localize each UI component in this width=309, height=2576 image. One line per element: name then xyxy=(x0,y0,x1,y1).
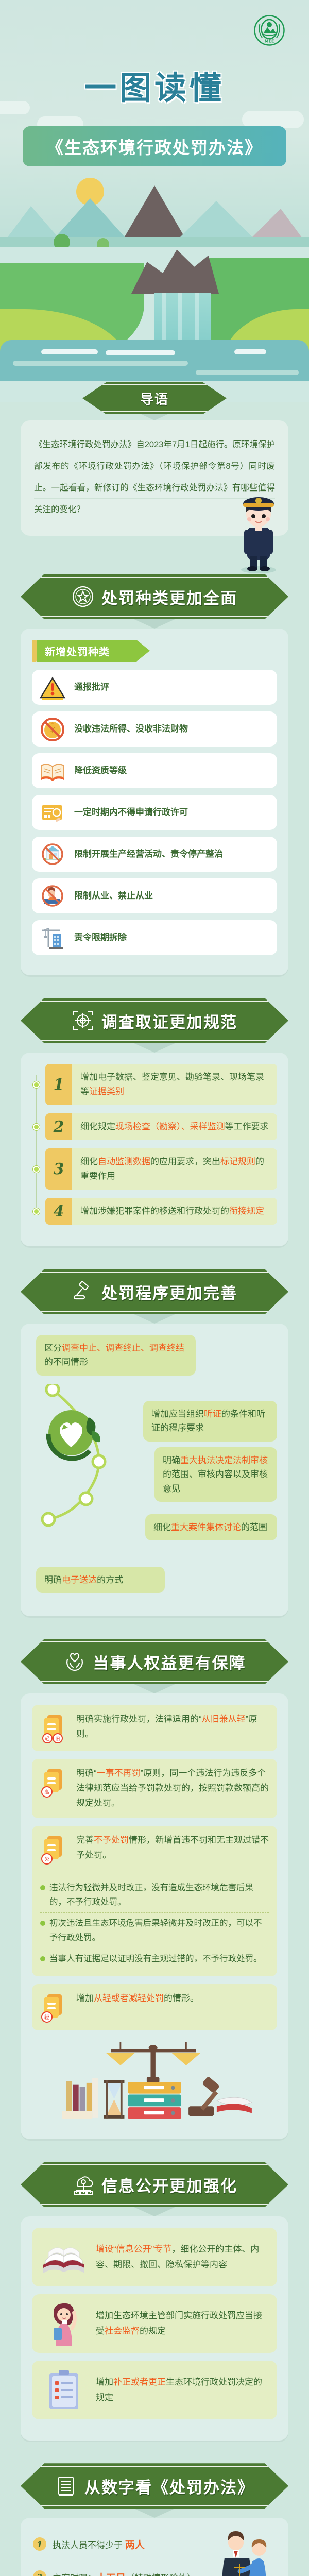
section-banner-evidence: 调查取证更加规范 xyxy=(0,991,309,1043)
item-number: 3 xyxy=(45,1148,72,1190)
svg-text:轻: 轻 xyxy=(45,1736,49,1741)
list-item: 增设“信息公开”专节，细化公开的主体、内容、期限、撤回、隐私保护等内容 xyxy=(32,2228,277,2286)
bullet-icon xyxy=(40,1921,45,1926)
timeline-dot-icon xyxy=(33,1081,40,1088)
list-item-label: 降低资质等级 xyxy=(74,765,127,776)
section-banner-numbers: 从数字看《处罚办法》 xyxy=(0,2456,309,2509)
mee-emblem-icon: MEE xyxy=(253,14,285,46)
list-item: 高 明确“一事不再罚”原则，同一个违法行为违反多个法律规范应当给予罚款处罚的，按… xyxy=(32,1759,277,1818)
section-banner-rights: 当事人权益更有保障 xyxy=(0,1632,309,1684)
officer-avatar xyxy=(234,487,283,574)
table-row: 2 细化规定现场检查（勘察）、采样监测等工作要求 xyxy=(45,1113,277,1140)
page-subtitle-ribbon: 《生态环境行政处罚办法》 xyxy=(23,126,286,166)
page-title: 一图读懂 xyxy=(0,62,309,108)
item-text: 明确“一事不再罚”原则，同一个违法行为违反多个法律规范应当给予罚款处罚的，按照罚… xyxy=(76,1766,269,1811)
panel-procedure: 区分调查中止、调查终止、调查终结的不同情形 增加应当组织听证的条件和听证的程序要… xyxy=(21,1324,288,1616)
list-item: 初次违法且生态环境危害后果轻微并及时改正的，可以不予行政处罚。 xyxy=(40,1912,269,1948)
item-text: 细化自动监测数据的应用要求，突出标记规则的重要作用 xyxy=(72,1148,277,1190)
item-text: 增加补正或者更正生态环境行政处罚决定的规定 xyxy=(96,2375,269,2405)
recycle-heart-leaf-icon xyxy=(41,1402,108,1469)
no-worker-icon xyxy=(39,884,66,908)
list-item-label: 责令限期拆除 xyxy=(74,932,127,943)
clipboard-checklist-icon xyxy=(40,2368,88,2412)
list-item-label: 没收违法所得、没收非法财物 xyxy=(74,723,188,735)
timeline-dot-icon xyxy=(33,1166,40,1173)
warning-triangle-icon xyxy=(39,675,66,700)
intro-banner: 导语 xyxy=(0,375,309,414)
scales-books-gavel-illustration xyxy=(32,2038,277,2126)
no-money-icon: ¥ xyxy=(39,717,66,741)
sublabel-text: 新增处罚种类 xyxy=(37,640,150,662)
table-row: 4 增加涉嫌犯罪案件的移送和行政处罚的衔接规定 xyxy=(45,1198,277,1225)
item-number: 2 xyxy=(33,2570,46,2576)
bubble-item: 明确重大执法决定法制审核的范围、审核内容以及审核意见 xyxy=(154,1447,277,1502)
hero-header: MEE 一图读懂 《生态环境行政处罚办法》 xyxy=(0,0,309,247)
item-text: 明确实施行政处罚，法律适用的“从旧兼从轻”原则。 xyxy=(76,1712,269,1742)
item-text: 增设“信息公开”专节，细化公开的主体、内容、期限、撤回、隐私保护等内容 xyxy=(96,2242,269,2273)
page-subtitle: 《生态环境行政处罚办法》 xyxy=(46,134,263,159)
list-item: 轻 增加从轻或者减轻处罚的情形。 xyxy=(32,1984,277,2030)
list-item: 增加补正或者更正生态环境行政处罚决定的规定 xyxy=(32,2361,277,2419)
sublabel-new-types: 新增处罚种类 xyxy=(32,640,277,662)
bullet-text: 违法行为轻微并及时改正，没有造成生态环境危害后果的，不予行政处罚。 xyxy=(49,1880,269,1909)
list-item: 当事人有证据足以证明没有主观过错的，不予行政处罚。 xyxy=(40,1948,269,1969)
timeline-dot-icon xyxy=(33,1208,40,1215)
no-factory-icon xyxy=(39,842,66,867)
section-banner-disclosure: 信息公开更加强化 xyxy=(0,2155,309,2207)
mountain-illustration xyxy=(0,170,309,247)
svg-text:MEE: MEE xyxy=(264,39,274,44)
list-item: 增加生态环境主管部门实施行政处罚应当接受社会监督的规定 xyxy=(32,2294,277,2353)
item-number: 1 xyxy=(33,2537,46,2551)
list-item: 通报批评 xyxy=(32,670,277,705)
list-item-label: 限制从业、禁止从业 xyxy=(74,890,153,902)
doc-light-icon: 轻 xyxy=(40,1991,69,2023)
timeline-dot-icon xyxy=(33,1124,40,1130)
svg-text:免: 免 xyxy=(44,1856,49,1862)
item-text: 增加生态环境主管部门实施行政处罚应当接受社会监督的规定 xyxy=(96,2308,269,2339)
list-item: 一定时期内不得申请行政许可 xyxy=(32,795,277,830)
panel-rights: 轻旧 明确实施行政处罚，法律适用的“从旧兼从轻”原则。 高 明确“一事不再罚”原… xyxy=(21,1693,288,2139)
list-item-label: 限制开展生产经营活动、责令停产整治 xyxy=(74,849,223,860)
list-item: 限制从业、禁止从业 xyxy=(32,878,277,913)
bullet-icon xyxy=(40,1885,45,1890)
doc-exempt-icon: 免 xyxy=(40,1833,69,1865)
section-banner-punishment-types: 处罚种类更加全面 xyxy=(0,567,309,619)
open-book-icon xyxy=(39,758,66,783)
item-text: 增加涉嫌犯罪案件的移送和行政处罚的衔接规定 xyxy=(72,1198,277,1225)
item-text: 增加电子数据、鉴定意见、勘验笔录、现场笔录等证据类别 xyxy=(72,1064,277,1105)
list-item-label: 通报批评 xyxy=(74,682,109,693)
panel-evidence: 1 增加电子数据、鉴定意见、勘验笔录、现场笔录等证据类别 2 细化规定现场检查（… xyxy=(21,1053,288,1246)
item-number: 2 xyxy=(45,1113,72,1140)
list-item: ¥ 没收违法所得、没收非法财物 xyxy=(32,711,277,747)
svg-text:旧: 旧 xyxy=(55,1736,60,1741)
bubble-item: 增加应当组织听证的条件和听证的程序要求 xyxy=(143,1401,277,1441)
item-text: 细化规定现场检查（勘察）、采样监测等工作要求 xyxy=(72,1113,277,1140)
item-text: 完善不予处罚情形，新增首违不罚和无主观过错不予处罚。 xyxy=(76,1833,269,1863)
woman-pointing-icon xyxy=(40,2301,88,2346)
crane-demolish-icon xyxy=(39,925,66,950)
bubble-item: 明确电子送达的方式 xyxy=(36,1567,165,1593)
cloud-icon xyxy=(242,111,304,128)
list-item: 免 完善不予处罚情形，新增首违不罚和无主观过错不予处罚。 违法行为轻微并及时改正… xyxy=(32,1826,277,1976)
bullet-text: 初次违法且生态环境危害后果轻微并及时改正的，可以不予行政处罚。 xyxy=(49,1916,269,1945)
doc-light-old-icon: 轻旧 xyxy=(40,1712,69,1744)
list-item: 责令限期拆除 xyxy=(32,920,277,955)
list-item: 降低资质等级 xyxy=(32,753,277,788)
table-row: 1 增加电子数据、鉴定意见、勘验笔录、现场笔录等证据类别 xyxy=(45,1064,277,1105)
doc-high-icon: 高 xyxy=(40,1766,69,1798)
section-banner-procedure: 处罚程序更加完善 xyxy=(0,1262,309,1314)
table-row: 3 细化自动监测数据的应用要求，突出标记规则的重要作用 xyxy=(45,1148,277,1190)
svg-text:高: 高 xyxy=(44,1789,49,1795)
bubble-item: 细化重大案件集体讨论的范围 xyxy=(145,1514,277,1540)
infographic-page: MEE 一图读懂 《生态环境行政处罚办法》 xyxy=(0,0,309,2576)
item-text: 增加从轻或者减轻处罚的情形。 xyxy=(76,1991,269,2006)
list-item-label: 一定时期内不得申请行政许可 xyxy=(74,807,188,818)
item-number: 4 xyxy=(45,1198,72,1225)
panel-disclosure: 增设“信息公开”专节，细化公开的主体、内容、期限、撤回、隐私保护等内容 增加生态… xyxy=(21,2216,288,2441)
panel-punishment-types: 新增处罚种类 通报批评 ¥ 没收违法所得、没收非法财物 降低资质等级 一定时期内… xyxy=(21,629,288,975)
bullet-text: 当事人有证据足以证明没有主观过错的，不予行政处罚。 xyxy=(49,1952,262,1966)
item-number: 1 xyxy=(45,1064,72,1105)
open-book-icon xyxy=(40,2235,88,2279)
list-item: 违法行为轻微并及时改正，没有造成生态环境危害后果的，不予行政处罚。 xyxy=(40,1877,269,1912)
bullet-icon xyxy=(40,1956,45,1961)
svg-text:轻: 轻 xyxy=(44,2014,49,2021)
lawyer-officer-illustration xyxy=(210,2527,277,2576)
list-item: 轻旧 明确实施行政处罚，法律适用的“从旧兼从轻”原则。 xyxy=(32,1705,277,1751)
intro-panel: 《生态环境行政处罚办法》自2023年7月1日起施行。原环境保护部发布的《环境行政… xyxy=(21,420,288,536)
license-card-icon xyxy=(39,800,66,825)
list-item: 限制开展生产经营活动、责令停产整治 xyxy=(32,837,277,872)
bubble-item: 区分调查中止、调查终止、调查终结的不同情形 xyxy=(36,1335,196,1375)
panel-numbers: 1 执法人员不得少于 两人 2 立案时限：十五日（特殊情形除外） 3 作出处罚决… xyxy=(21,2518,288,2576)
